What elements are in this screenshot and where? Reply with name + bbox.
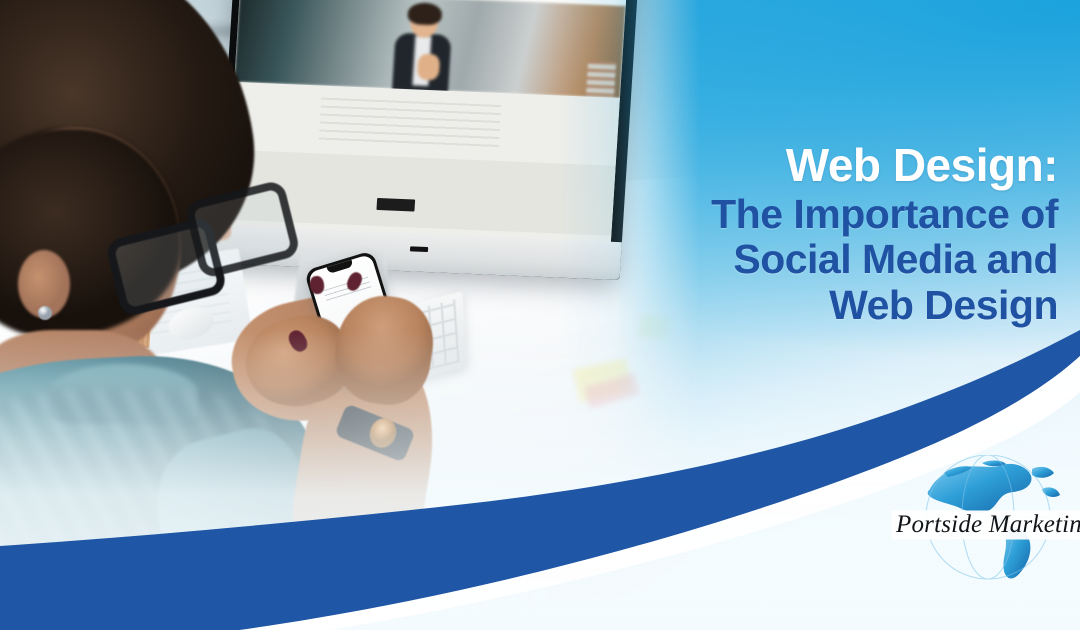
headline-block: Web Design: The Importance of Social Med… (628, 142, 1058, 327)
site-cta-button (376, 198, 415, 212)
promotional-banner: Web Design: The Importance of Social Med… (0, 0, 1080, 630)
headline-line-1: Web Design: (628, 142, 1058, 190)
logo-brand-text: Portside Marketing (896, 511, 1080, 539)
monitor-brand-logo (410, 246, 428, 252)
brand-logo[interactable]: Portside Marketing (892, 455, 1080, 580)
earring (38, 306, 52, 320)
headline-line-2: The Importance of (628, 193, 1058, 236)
headline-line-4: Web Design (628, 284, 1058, 327)
hero-businesswoman (384, 4, 461, 91)
headline-line-3: Social Media and (628, 238, 1058, 281)
